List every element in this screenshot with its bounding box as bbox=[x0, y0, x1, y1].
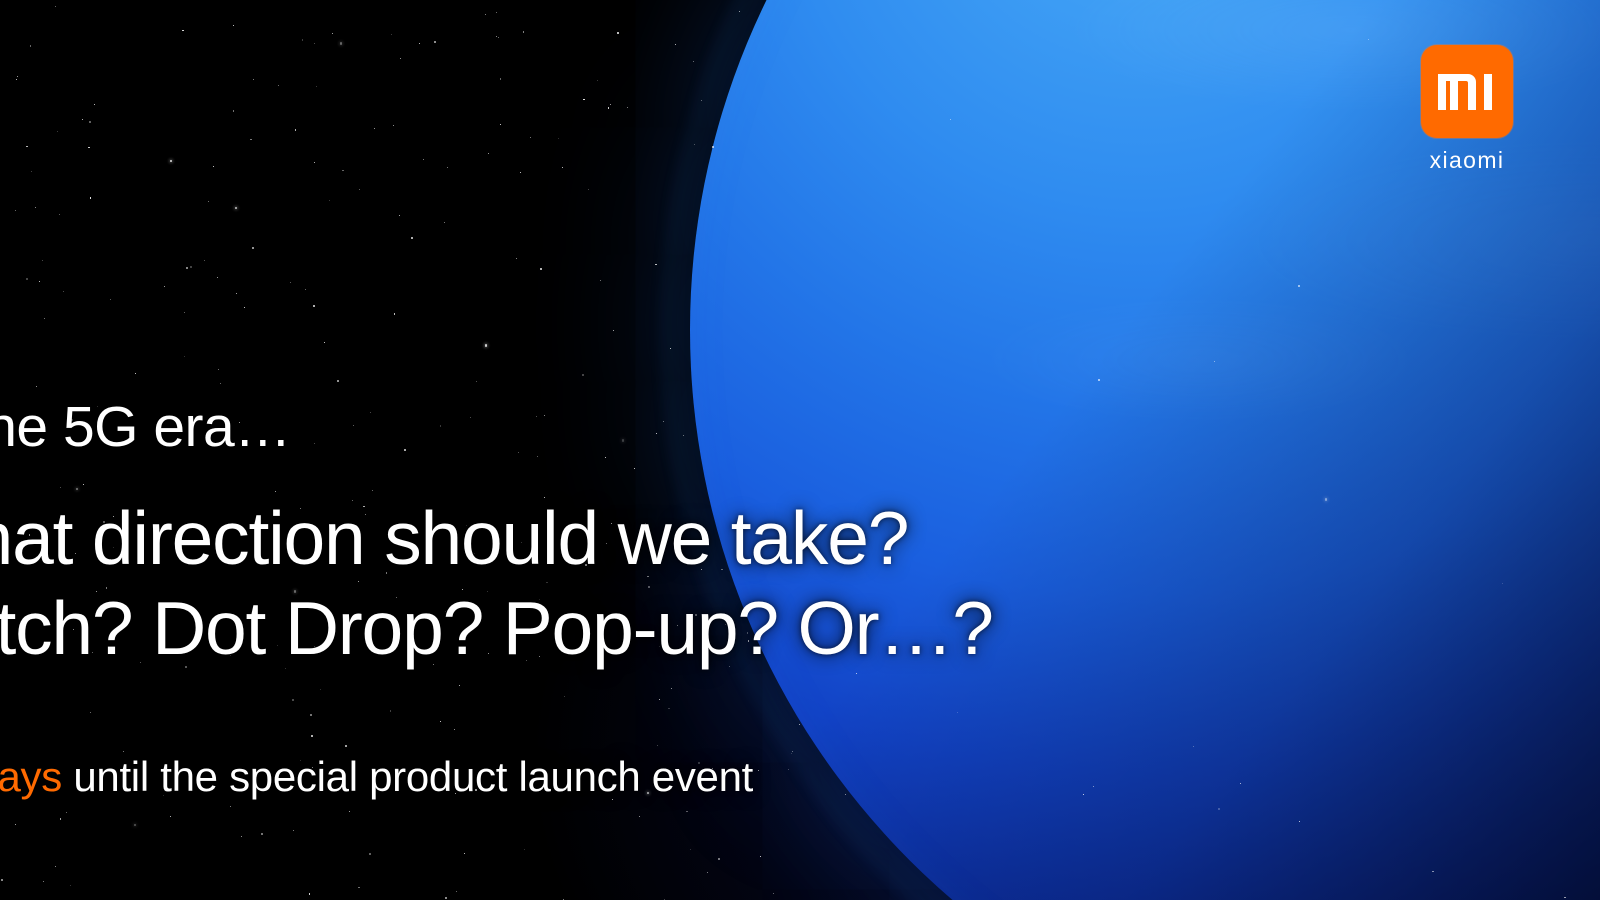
footer-label: until the special product launch event bbox=[62, 753, 753, 800]
headline-line-2: Notch? Dot Drop? Pop-up? Or…? bbox=[0, 585, 993, 671]
xiaomi-brand-lockup: xiaomi bbox=[1413, 45, 1521, 172]
mi-logo-icon bbox=[1438, 74, 1496, 110]
countdown-value: 5 days bbox=[0, 753, 62, 800]
kicker-text: In the 5G era… bbox=[0, 394, 291, 460]
xiaomi-wordmark: xiaomi bbox=[1413, 149, 1521, 172]
mi-logo-tile bbox=[1421, 45, 1513, 138]
headline-line-1: What direction should we take? bbox=[0, 495, 908, 581]
teaser-poster: xiaomi In the 5G era… What direction sho… bbox=[0, 0, 1600, 900]
footer-countdown-line: 5 days until the special product launch … bbox=[0, 753, 753, 801]
